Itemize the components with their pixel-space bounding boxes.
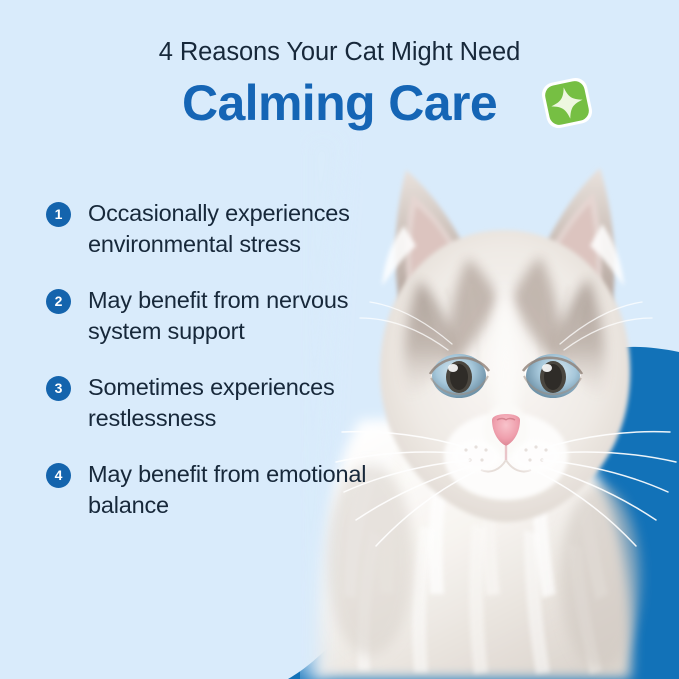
reason-text: May benefit from emotional balance	[88, 459, 376, 520]
list-item: 1 Occasionally experiences environmental…	[46, 198, 376, 259]
sparkle-badge-icon	[538, 74, 596, 132]
poster-header: 4 Reasons Your Cat Might Need Calming Ca…	[0, 0, 679, 134]
reasons-list: 1 Occasionally experiences environmental…	[46, 198, 376, 520]
infographic-poster: 4 Reasons Your Cat Might Need Calming Ca…	[0, 0, 679, 679]
list-item: 3 Sometimes experiences restlessness	[46, 372, 376, 433]
reason-number-badge: 3	[46, 376, 71, 401]
reason-text: May benefit from nervous system support	[88, 285, 376, 346]
title-row: Calming Care	[0, 72, 679, 134]
list-item: 4 May benefit from emotional balance	[46, 459, 376, 520]
page-title: Calming Care	[182, 78, 497, 128]
reason-number-badge: 4	[46, 463, 71, 488]
poster-subtitle: 4 Reasons Your Cat Might Need	[0, 0, 679, 66]
reason-number-badge: 2	[46, 289, 71, 314]
list-item: 2 May benefit from nervous system suppor…	[46, 285, 376, 346]
reason-text: Sometimes experiences restlessness	[88, 372, 376, 433]
reason-number-badge: 1	[46, 202, 71, 227]
reason-text: Occasionally experiences environmental s…	[88, 198, 376, 259]
